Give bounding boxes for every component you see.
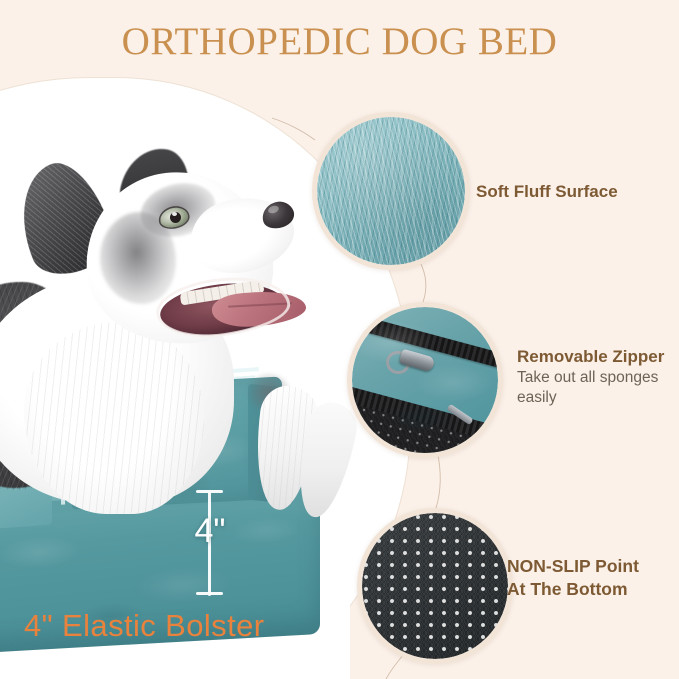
dog-chest-fur-texture (24, 322, 204, 514)
dog-eye-highlight (172, 212, 177, 216)
page-title: ORTHOPEDIC DOG BED (0, 20, 679, 64)
feature-heading: Soft Fluff Surface (476, 180, 618, 203)
nonslip-mesh-edge (347, 392, 503, 458)
feature-swatch-removable-zipper[interactable] (347, 302, 503, 458)
connector-zipper-to-nonslip (436, 450, 440, 508)
zipper-track-upper-icon (347, 307, 503, 378)
feature-label-removable-zipper: Removable Zipper Take out all sponges ea… (517, 345, 679, 408)
dimension-label: 4" (180, 514, 240, 548)
feature-heading-line1: NON-SLIP Point (507, 555, 639, 578)
connector-nonslip-trailing (386, 654, 404, 679)
teal-fabric-background (352, 307, 498, 453)
feature-heading: Removable Zipper (517, 345, 679, 368)
feature-heading-line2: At The Bottom (507, 578, 639, 601)
zipper-track-lower-icon (347, 380, 503, 455)
connector-fluff-to-zipper (420, 262, 426, 302)
bolster-caption: 4" Elastic Bolster (24, 608, 264, 644)
feature-subtext: Take out all sponges easily (517, 368, 679, 408)
feature-swatch-non-slip[interactable] (357, 508, 513, 664)
bolster-height-dimension: 4" (188, 486, 248, 602)
zipper-slider-icon (399, 349, 436, 373)
dog-illustration (0, 86, 354, 526)
feature-swatch-soft-fluff[interactable] (312, 112, 470, 270)
feature-label-soft-fluff: Soft Fluff Surface (476, 180, 618, 203)
dimension-cap-bottom (196, 592, 223, 595)
teal-fluff-texture-icon (317, 117, 465, 265)
feature-label-non-slip: NON-SLIP Point At The Bottom (507, 555, 639, 601)
zipper-tab-icon (446, 404, 473, 425)
infographic-canvas: ORTHOPEDIC DOG BED (0, 0, 679, 679)
silicone-dot-grid-icon (362, 513, 508, 659)
zipper-pull-ring-icon (383, 348, 412, 377)
